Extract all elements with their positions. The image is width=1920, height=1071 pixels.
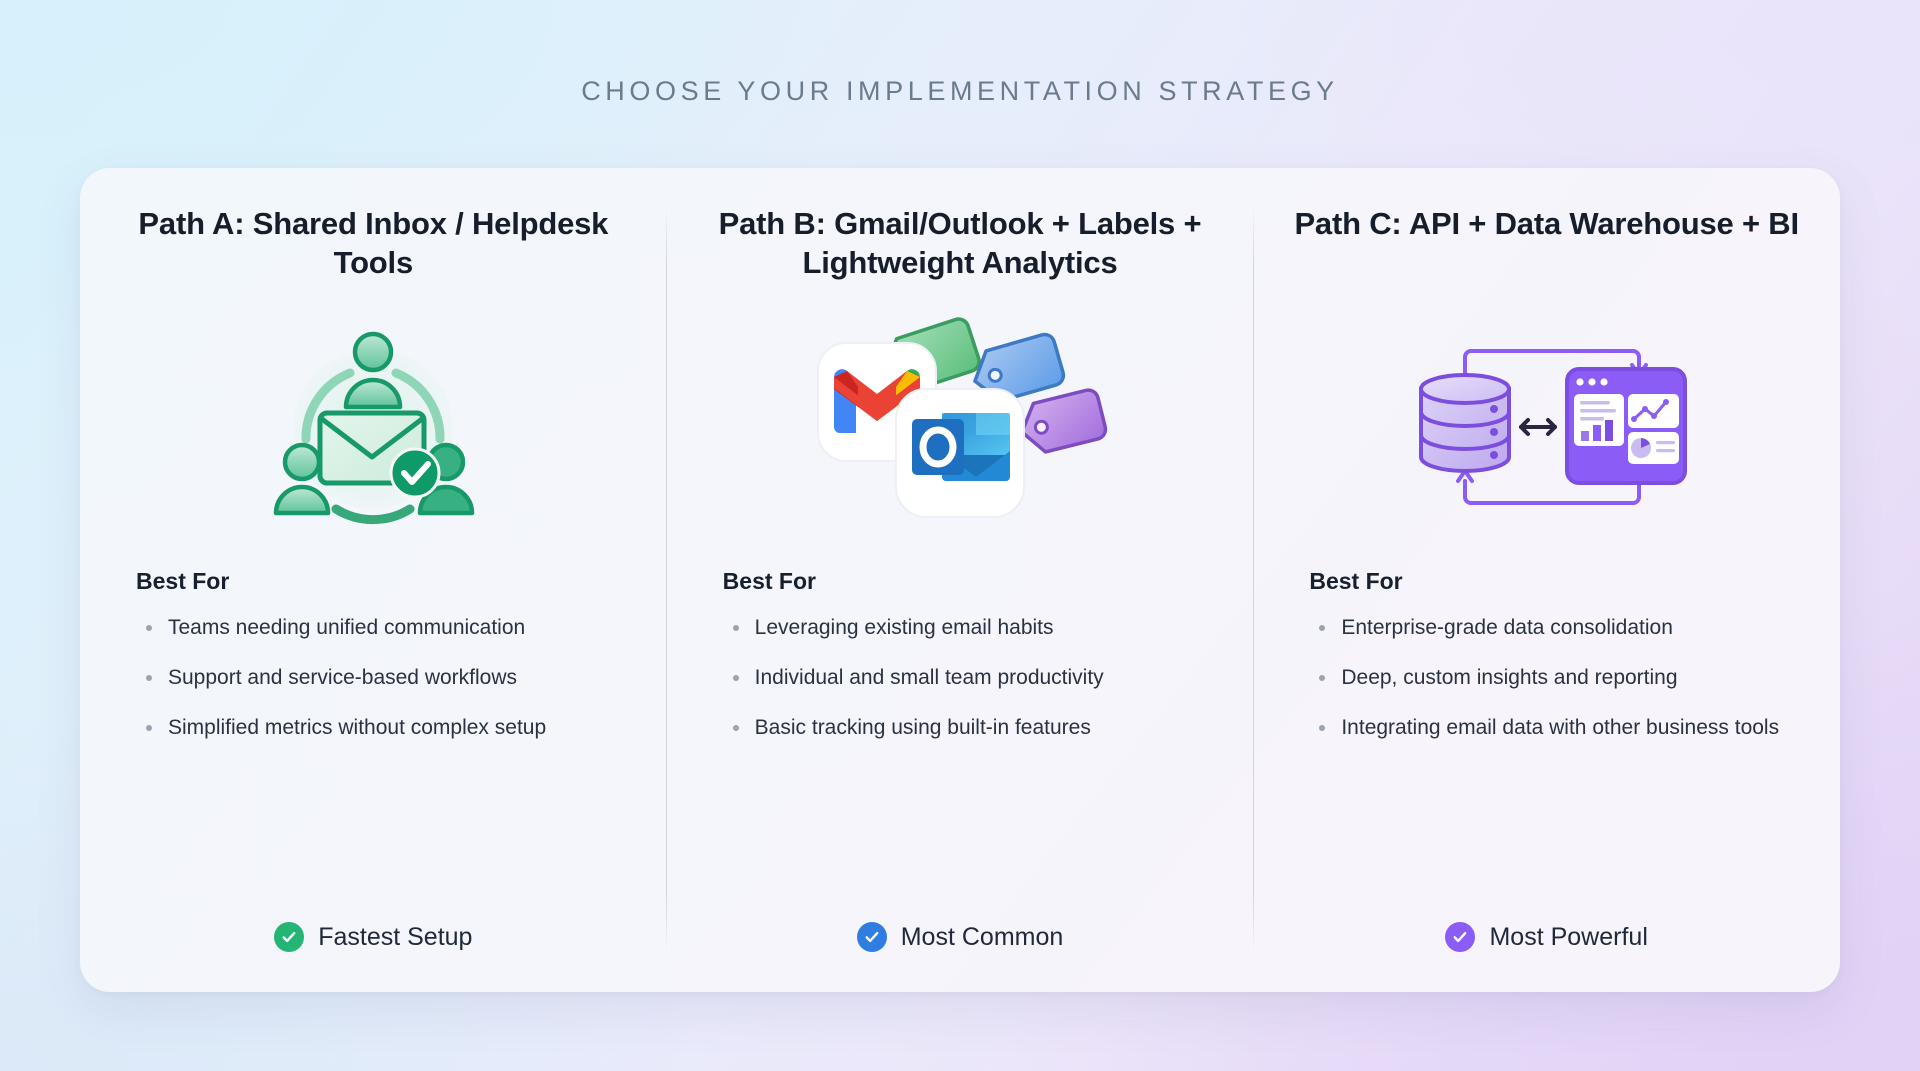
list-item: Integrating email data with other busine… (1309, 713, 1789, 743)
badge-label-c: Most Powerful (1489, 923, 1647, 952)
best-for-label-a: Best For (136, 568, 629, 595)
illustration-data-warehouse (1291, 292, 1802, 560)
check-circle-icon (1445, 922, 1475, 952)
bullet-list-a: Teams needing unified communication Supp… (136, 613, 629, 762)
list-item: Deep, custom insights and reporting (1309, 663, 1789, 693)
comparison-infographic: CHOOSE YOUR IMPLEMENTATION STRATEGY Path… (0, 0, 1920, 1071)
column-path-c[interactable]: Path C: API + Data Warehouse + BI (1253, 168, 1840, 992)
page-title: CHOOSE YOUR IMPLEMENTATION STRATEGY (0, 76, 1920, 107)
strategy-card: Path A: Shared Inbox / Helpdesk Tools (80, 168, 1840, 992)
status-badge-b: Most Common (705, 922, 1216, 952)
column-path-a[interactable]: Path A: Shared Inbox / Helpdesk Tools (80, 168, 667, 992)
bullet-list-c: Enterprise-grade data consolidation Deep… (1309, 613, 1802, 762)
column-title-path-a: Path A: Shared Inbox / Helpdesk Tools (118, 204, 629, 286)
database-dashboard-icon (1397, 331, 1697, 521)
status-badge-c: Most Powerful (1291, 922, 1802, 952)
check-circle-icon (857, 922, 887, 952)
list-item: Individual and small team productivity (723, 663, 1203, 693)
badge-label-a: Fastest Setup (318, 923, 472, 952)
illustration-shared-inbox (118, 292, 629, 560)
best-for-label-c: Best For (1309, 568, 1802, 595)
list-item: Enterprise-grade data consolidation (1309, 613, 1789, 643)
badge-label-b: Most Common (901, 923, 1064, 952)
bullet-list-b: Leveraging existing email habits Individ… (723, 613, 1216, 762)
list-item: Leveraging existing email habits (723, 613, 1203, 643)
gmail-outlook-labels-icon (810, 311, 1110, 541)
list-item: Teams needing unified communication (136, 613, 616, 643)
shared-inbox-team-icon (258, 321, 488, 531)
column-path-b[interactable]: Path B: Gmail/Outlook + Labels + Lightwe… (667, 168, 1254, 992)
list-item: Simplified metrics without complex setup (136, 713, 616, 743)
status-badge-a: Fastest Setup (118, 922, 629, 952)
column-title-path-c: Path C: API + Data Warehouse + BI (1291, 204, 1802, 286)
check-circle-icon (274, 922, 304, 952)
best-for-label-b: Best For (723, 568, 1216, 595)
column-title-path-b: Path B: Gmail/Outlook + Labels + Lightwe… (705, 204, 1216, 286)
list-item: Support and service-based workflows (136, 663, 616, 693)
illustration-gmail-outlook (705, 292, 1216, 560)
list-item: Basic tracking using built-in features (723, 713, 1203, 743)
